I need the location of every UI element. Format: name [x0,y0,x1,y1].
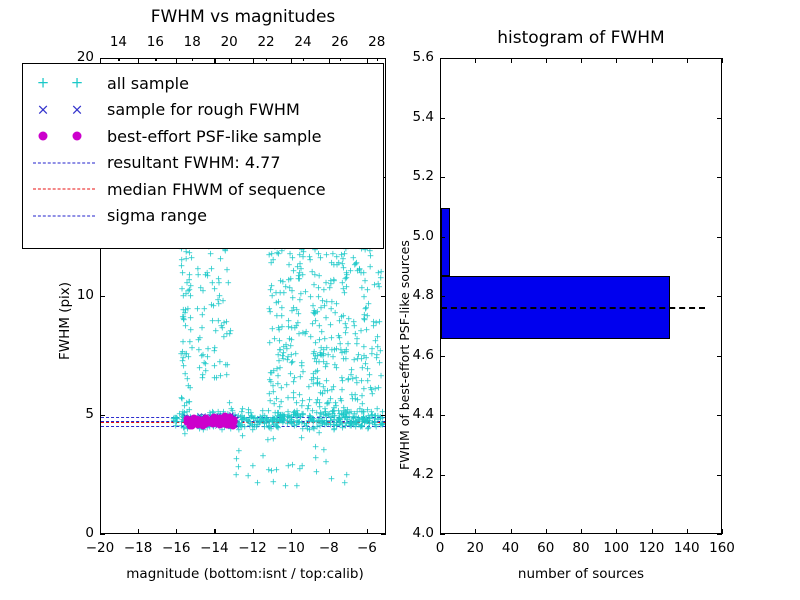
data-point: + [306,256,314,265]
axis-tick [440,58,445,59]
data-point: + [363,313,371,322]
dashed-line-icon [33,189,95,190]
axis-tick [229,58,230,61]
data-point: + [293,482,301,491]
data-point: + [218,323,226,332]
axis-tick [717,118,722,119]
data-point: + [377,372,385,381]
axis-tick [511,529,512,534]
data-point [208,418,215,425]
data-point: + [353,335,361,344]
data-point: + [211,344,219,353]
dashed-line-icon [33,162,95,163]
axis-tick [717,475,722,476]
data-point: + [186,384,194,393]
data-point: + [204,353,212,362]
data-point: + [338,386,346,395]
data-point: + [322,458,330,467]
data-point: + [376,319,384,328]
data-point: + [274,372,282,381]
axis-tick [138,529,139,534]
data-point: + [223,372,231,381]
data-point: + [374,334,382,343]
axis-tick [717,415,722,416]
data-point: + [335,332,343,341]
data-point: + [179,355,187,364]
data-point: + [311,310,319,319]
data-point: + [217,256,225,265]
axis-tick-label: 4.0 [392,525,434,541]
data-point: + [194,265,202,274]
data-point: + [283,382,291,391]
axis-tick [440,118,445,119]
data-point: + [244,473,252,482]
data-point: + [182,306,190,315]
data-point: + [298,434,306,443]
data-point: + [310,348,318,357]
data-point: + [232,472,240,481]
data-point: + [207,251,215,260]
data-point: + [314,367,322,376]
dot-icon [73,132,82,141]
axis-tick [581,58,582,63]
data-point: + [270,435,278,444]
axis-tick-label: 0 [50,525,94,541]
data-point: + [311,271,319,280]
legend-label-median-fwhm: median FHWM of sequence [103,180,326,199]
data-point: + [340,285,348,294]
data-point: + [275,324,283,333]
axis-tick [717,296,722,297]
data-point: + [341,348,349,357]
data-point: + [216,359,224,368]
legend-label-resultant-fwhm: resultant FWHM: 4.77 [103,153,281,172]
axis-tick [381,296,386,297]
axis-tick [440,296,445,297]
axis-tick-label: 5.2 [392,168,434,184]
data-point: + [290,394,298,403]
axis-tick-label: 18 [172,34,212,50]
data-point: + [315,323,323,332]
dot-icon [39,132,48,141]
axis-tick [546,58,547,63]
axis-tick-label: 60 [526,540,566,556]
axis-tick [440,534,445,535]
data-point: + [299,329,307,338]
axis-tick [100,58,105,59]
data-point: + [195,336,203,345]
data-point: + [270,401,278,410]
data-point: + [298,462,306,471]
axis-tick-label: 28 [357,34,397,50]
legend-label-psf-sample: best-effort PSF-like sample [103,127,321,146]
data-point: + [316,337,324,346]
data-point: + [339,412,347,421]
data-point: + [186,338,194,347]
data-point: + [331,361,339,370]
data-point: + [347,371,355,380]
axis-tick [717,534,722,535]
data-point: + [333,345,341,354]
axis-tick [687,58,688,63]
legend-entry-sigma-range: sigma range [29,203,375,230]
data-point: + [316,404,324,413]
axis-tick-label: 20 [209,34,249,50]
axis-tick [381,534,386,535]
data-point: + [319,391,327,400]
legend-label-all-sample: all sample [103,74,189,93]
data-point: + [358,377,366,386]
data-point: + [180,363,188,372]
data-point: + [312,455,320,464]
plus-icon: + [37,76,50,91]
data-point: + [342,423,350,432]
histogram-y-axis-label: FWHM of best-effort PSF-like sources [397,240,412,470]
axis-tick-label: 5.4 [392,109,434,125]
axis-tick [616,58,617,63]
data-point: + [306,413,314,422]
axis-tick [475,58,476,63]
data-point: + [371,420,379,429]
data-point: + [330,384,338,393]
data-point: + [227,327,235,336]
data-point: + [187,326,195,335]
data-point: + [259,453,267,462]
scatter-y-axis-label: FWHM (pix) [57,282,73,360]
data-point: + [298,402,306,411]
data-point: + [339,312,347,321]
data-point: + [364,406,372,415]
data-point: + [355,352,363,361]
data-point: + [203,270,211,279]
axis-tick [377,58,378,61]
data-point: + [170,415,178,424]
data-point: + [265,466,273,475]
axis-tick-label: 26 [320,34,360,50]
axis-tick-label: 100 [596,540,636,556]
data-point: + [269,389,277,398]
axis-tick [717,177,722,178]
axis-tick-label: 20 [455,540,495,556]
data-point: + [333,254,341,263]
axis-tick-label: 24 [283,34,323,50]
legend-entry-psf-sample: best-effort PSF-like sample [29,123,375,150]
data-point: + [316,422,324,431]
axis-tick [303,58,304,61]
axis-tick [291,529,292,534]
data-point: + [327,322,335,331]
data-point: + [329,408,337,417]
data-point [230,417,237,424]
axis-tick [214,529,215,534]
axis-tick [381,415,386,416]
axis-tick [100,534,105,535]
data-point: + [298,359,306,368]
data-point: + [287,342,295,351]
axis-tick [176,529,177,534]
axis-tick-label: 0 [420,540,460,556]
data-point: + [310,281,318,290]
axis-tick [722,529,723,534]
data-point: + [297,373,305,382]
axis-tick [511,58,512,63]
data-point: + [320,446,328,455]
axis-tick [440,177,445,178]
data-point: + [297,266,305,275]
histogram-x-axis-label: number of sources [440,566,722,582]
data-point: + [374,344,382,353]
axis-tick-label: 140 [667,540,707,556]
data-point: + [239,433,247,442]
data-point: + [209,317,217,326]
legend-label-rough-fwhm: sample for rough FWHM [103,100,300,119]
axis-tick-label: 160 [702,540,742,556]
axis-tick [100,296,105,297]
data-point: + [180,315,188,324]
data-point: + [197,284,205,293]
legend-marker-rough-fwhm: × × [29,97,103,123]
axis-tick [192,58,193,61]
data-point: + [328,298,336,307]
data-point: + [330,277,338,286]
axis-tick-label: 80 [561,540,601,556]
data-point: + [199,312,207,321]
axis-tick-label: 16 [135,34,175,50]
plus-icon: + [71,76,84,91]
data-point: + [328,476,336,485]
axis-tick [687,529,688,534]
data-point: + [266,340,274,349]
axis-tick [652,529,653,534]
data-point: + [288,288,296,297]
legend-entry-median-fwhm: median FHWM of sequence [29,176,375,203]
axis-tick [329,529,330,534]
data-point: + [313,468,321,477]
data-point: + [223,267,231,276]
histogram-title: histogram of FWHM [440,28,722,48]
axis-tick [717,237,722,238]
data-point: + [249,462,257,471]
data-point: + [268,282,276,291]
scatter-title: FWHM vs magnitudes [100,7,386,27]
data-point: + [323,361,331,370]
axis-tick [475,529,476,534]
data-point: + [342,321,350,330]
axis-tick [266,58,267,61]
data-point: + [323,251,331,260]
data-point: + [269,479,277,488]
data-point: + [333,423,341,432]
data-point: + [178,286,186,295]
data-point: + [308,377,316,386]
axis-tick [581,529,582,534]
data-point: + [263,416,271,425]
data-point: + [181,370,189,379]
axis-tick-label: 14 [98,34,138,50]
data-point: + [235,448,243,457]
histogram-axes [440,58,722,534]
data-point: + [340,265,348,274]
data-point: + [288,360,296,369]
data-point: + [322,314,330,323]
legend-marker-median-fwhm [29,176,103,202]
data-point: + [362,361,370,370]
histogram-data-layer [441,59,721,533]
data-point: + [343,275,351,284]
legend-entry-all-sample: + + all sample [29,70,375,97]
data-point: + [348,392,356,401]
data-point: + [268,251,276,260]
legend-marker-psf-sample [29,123,103,149]
axis-tick [546,529,547,534]
data-point: + [215,279,223,288]
axis-tick [722,58,723,63]
axis-tick [440,475,445,476]
data-point: + [278,305,286,314]
data-point: + [366,264,374,273]
data-point: + [294,320,302,329]
data-point: + [282,482,290,491]
data-point: + [186,250,194,259]
data-point: + [292,350,300,359]
data-point: + [302,289,310,298]
axis-tick [652,58,653,63]
data-point: + [373,405,381,414]
data-point: + [320,287,328,296]
figure-canvas: FWHM vs magnitudes +++++++++++++++++++++… [0,0,800,600]
data-point: + [198,324,206,333]
data-point: + [183,399,191,408]
axis-tick [717,58,722,59]
data-point: + [208,301,216,310]
histogram-reference-line [441,307,705,309]
data-point: + [294,412,302,421]
axis-tick [381,58,386,59]
axis-tick-label: −6 [345,540,389,556]
data-point: + [277,399,285,408]
axis-tick [440,237,445,238]
data-point: + [245,410,253,419]
histogram-bar [441,208,450,276]
axis-tick [616,529,617,534]
data-point: + [288,308,296,317]
data-point [196,417,203,424]
data-point: + [216,293,224,302]
data-point: + [312,444,320,453]
legend-label-sigma-range: sigma range [103,206,207,225]
cross-icon: × [71,102,84,117]
axis-tick [100,415,105,416]
axis-tick-label: 5 [50,406,94,422]
data-point [186,422,193,429]
axis-tick [440,415,445,416]
axis-tick [367,529,368,534]
data-point: + [195,347,203,356]
legend-marker-all-sample: + + [29,70,103,96]
data-point: + [353,259,361,268]
data-point: + [377,274,385,283]
plot-legend: + + all sample × × sample for rough FWHM… [22,63,384,249]
axis-tick [253,529,254,534]
axis-tick-label: 40 [491,540,531,556]
data-point: + [331,309,339,318]
axis-tick-label: 22 [246,34,286,50]
data-point: + [338,374,346,383]
legend-entry-rough-fwhm: × × sample for rough FWHM [29,97,375,124]
data-point: + [347,408,355,417]
data-point: + [279,412,287,421]
data-point [218,419,225,426]
legend-entry-resultant-fwhm: resultant FWHM: 4.77 [29,150,375,177]
axis-tick-label: 5.6 [392,49,434,65]
data-point: + [254,479,262,488]
dash-dot-line-icon [33,215,95,216]
axis-tick [340,58,341,61]
axis-tick [155,58,156,61]
data-point: + [196,364,204,373]
data-point: + [225,280,233,289]
legend-marker-resultant-fwhm [29,150,103,176]
data-point: + [276,364,284,373]
axis-tick-label: 120 [632,540,672,556]
scatter-x-axis-label: magnitude (bottom:isnt / top:calib) [75,566,415,582]
data-point: + [285,463,293,472]
axis-tick [118,58,119,61]
legend-marker-sigma-range [29,203,103,229]
data-point: + [357,327,365,336]
cross-icon: × [37,102,50,117]
axis-tick [440,356,445,357]
data-point: + [341,480,349,489]
data-point: + [375,384,383,393]
axis-tick [717,356,722,357]
data-point: + [360,293,368,302]
